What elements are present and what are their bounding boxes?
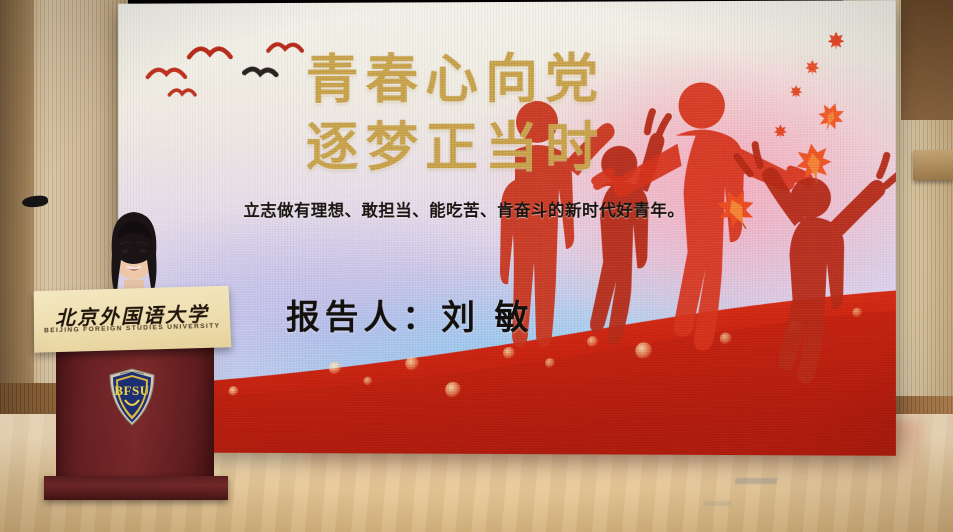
presenter-name: 报告人：刘 敏 (286, 290, 533, 339)
svg-text:BFSU: BFSU (114, 383, 149, 398)
bokeh-circle (445, 382, 461, 398)
bokeh-circle (329, 362, 342, 375)
maple-leaf-icon (792, 139, 836, 186)
photo-scene: 青春心向党 逐梦正当时 立志做有理想、敢担当、能吃苦、肯奋斗的新时代好青年。 报… (0, 0, 953, 532)
bokeh-circle (363, 377, 372, 386)
title-line-2: 逐梦正当时 (197, 113, 716, 182)
maple-leaf-icon (773, 123, 787, 139)
podium-base (44, 476, 228, 500)
lectern-podium: BFSU 北京外国语大学 BEIJING FOREIGN STUDIES UNI… (28, 288, 236, 504)
maple-leaf-icon (790, 84, 803, 99)
podium-nameplate: 北京外国语大学 BEIJING FOREIGN STUDIES UNIVERSI… (34, 286, 232, 353)
maple-leaf-icon (827, 31, 845, 51)
floor-mark (702, 501, 732, 506)
bfsu-shield-emblem: BFSU (107, 368, 157, 426)
title-line-1: 青春心向党 (197, 45, 716, 114)
wall-right-trim-block (913, 150, 953, 180)
maple-leaf-icon (805, 59, 820, 76)
screen-subtitle: 立志做有理想、敢担当、能吃苦、肯奋斗的新时代好青年。 (185, 197, 744, 221)
screen-title-block: 青春心向党 逐梦正当时 (197, 45, 716, 182)
bokeh-circle (405, 357, 419, 371)
wall-right-dark-edge (901, 0, 953, 120)
floor-mark (734, 478, 778, 484)
